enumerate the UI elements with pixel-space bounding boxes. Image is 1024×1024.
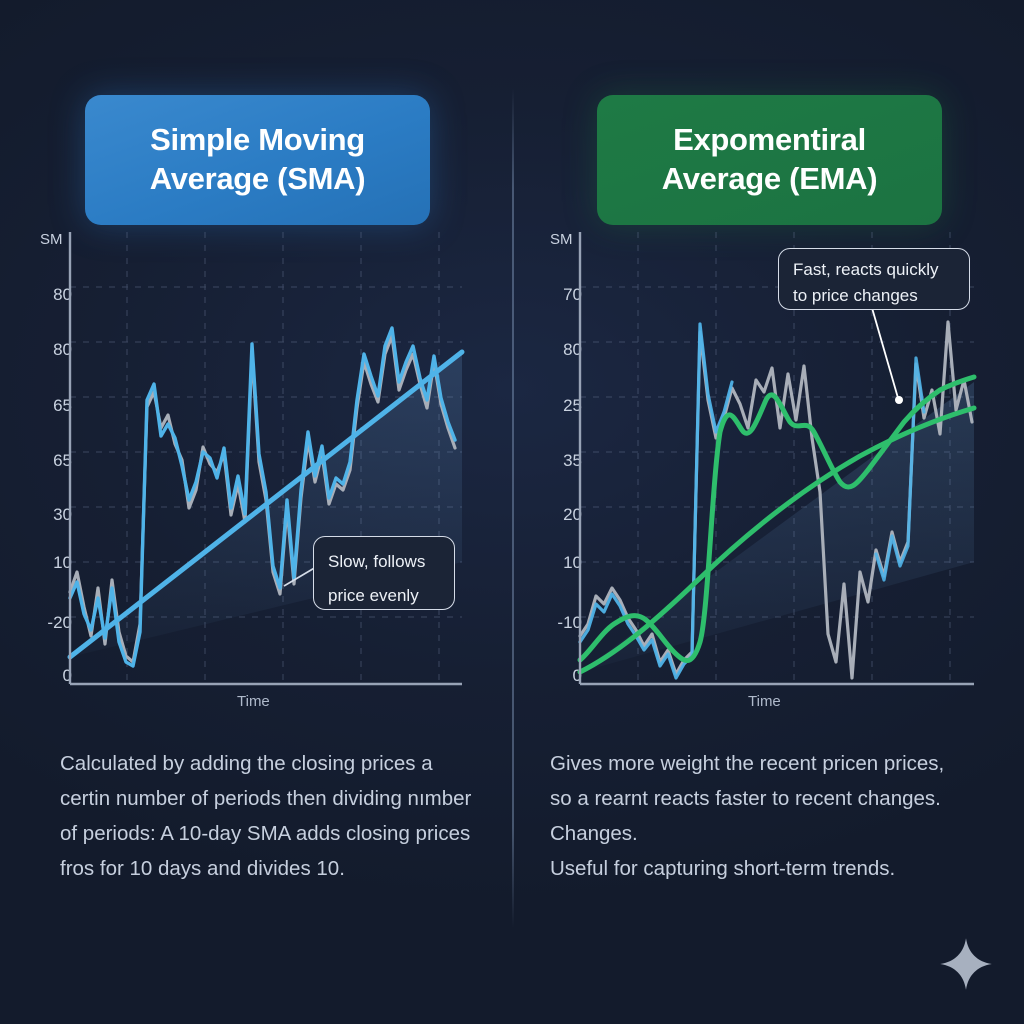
ema-ytick-1: 80 — [538, 340, 582, 360]
ema-y-axis-title: SM — [550, 231, 573, 248]
sma-ytick-3: 65 — [28, 451, 72, 471]
sma-y-axis-title: SM — [40, 231, 63, 248]
sparkle-icon — [938, 936, 994, 992]
sma-chart — [70, 232, 462, 684]
ema-x-axis-label: Time — [748, 693, 781, 710]
sma-ytick-4: 30 — [28, 505, 72, 525]
sma-ytick-7: 0 — [28, 666, 72, 686]
ema-area-fill — [580, 382, 974, 672]
sma-ytick-6: -20 — [28, 613, 72, 633]
ema-title-line1: Expomentiral — [662, 121, 877, 160]
ema-callout-line1: Fast, reacts quickly — [793, 257, 955, 283]
sma-description: Calculated by adding the closing prices … — [60, 746, 480, 886]
sma-ytick-2: 65 — [28, 396, 72, 416]
ema-ytick-3: 35 — [538, 451, 582, 471]
sma-x-axis-label: Time — [237, 693, 270, 710]
sma-callout-line1: Slow, follows — [328, 545, 440, 579]
ema-callout: Fast, reacts quickly to price changes — [778, 248, 970, 310]
ema-ytick-0: 70 — [538, 285, 582, 305]
sma-title-line2: Average (SMA) — [150, 160, 365, 199]
sma-callout: Slow, follows price evenly — [313, 536, 455, 610]
ema-ytick-6: -10 — [538, 613, 582, 633]
ema-title-badge: Expomentiral Average (EMA) — [597, 95, 942, 225]
ema-description: Gives more weight the recent pricen pric… — [550, 746, 970, 886]
sma-callout-line2: price evenly — [328, 579, 440, 613]
sma-ytick-0: 80 — [28, 285, 72, 305]
ema-callout-line2: to price changes — [793, 283, 955, 309]
sma-panel: Simple Moving Average (SMA) SM 80 80 65 … — [0, 0, 512, 1024]
ema-ytick-5: 10 — [538, 553, 582, 573]
sma-ytick-5: 10 — [28, 553, 72, 573]
ema-ytick-4: 20 — [538, 505, 582, 525]
ema-ytick-7: 0 — [538, 666, 582, 686]
ema-title-line2: Average (EMA) — [662, 160, 877, 199]
infographic-canvas: Simple Moving Average (SMA) SM 80 80 65 … — [0, 0, 1024, 1024]
sma-title-badge: Simple Moving Average (SMA) — [85, 95, 430, 225]
ema-panel: Expomentiral Average (EMA) SM 70 80 25 3… — [512, 0, 1024, 1024]
ema-ytick-2: 25 — [538, 396, 582, 416]
ema-callout-anchor-dot — [895, 396, 903, 404]
sma-title-line1: Simple Moving — [150, 121, 365, 160]
sma-ytick-1: 80 — [28, 340, 72, 360]
